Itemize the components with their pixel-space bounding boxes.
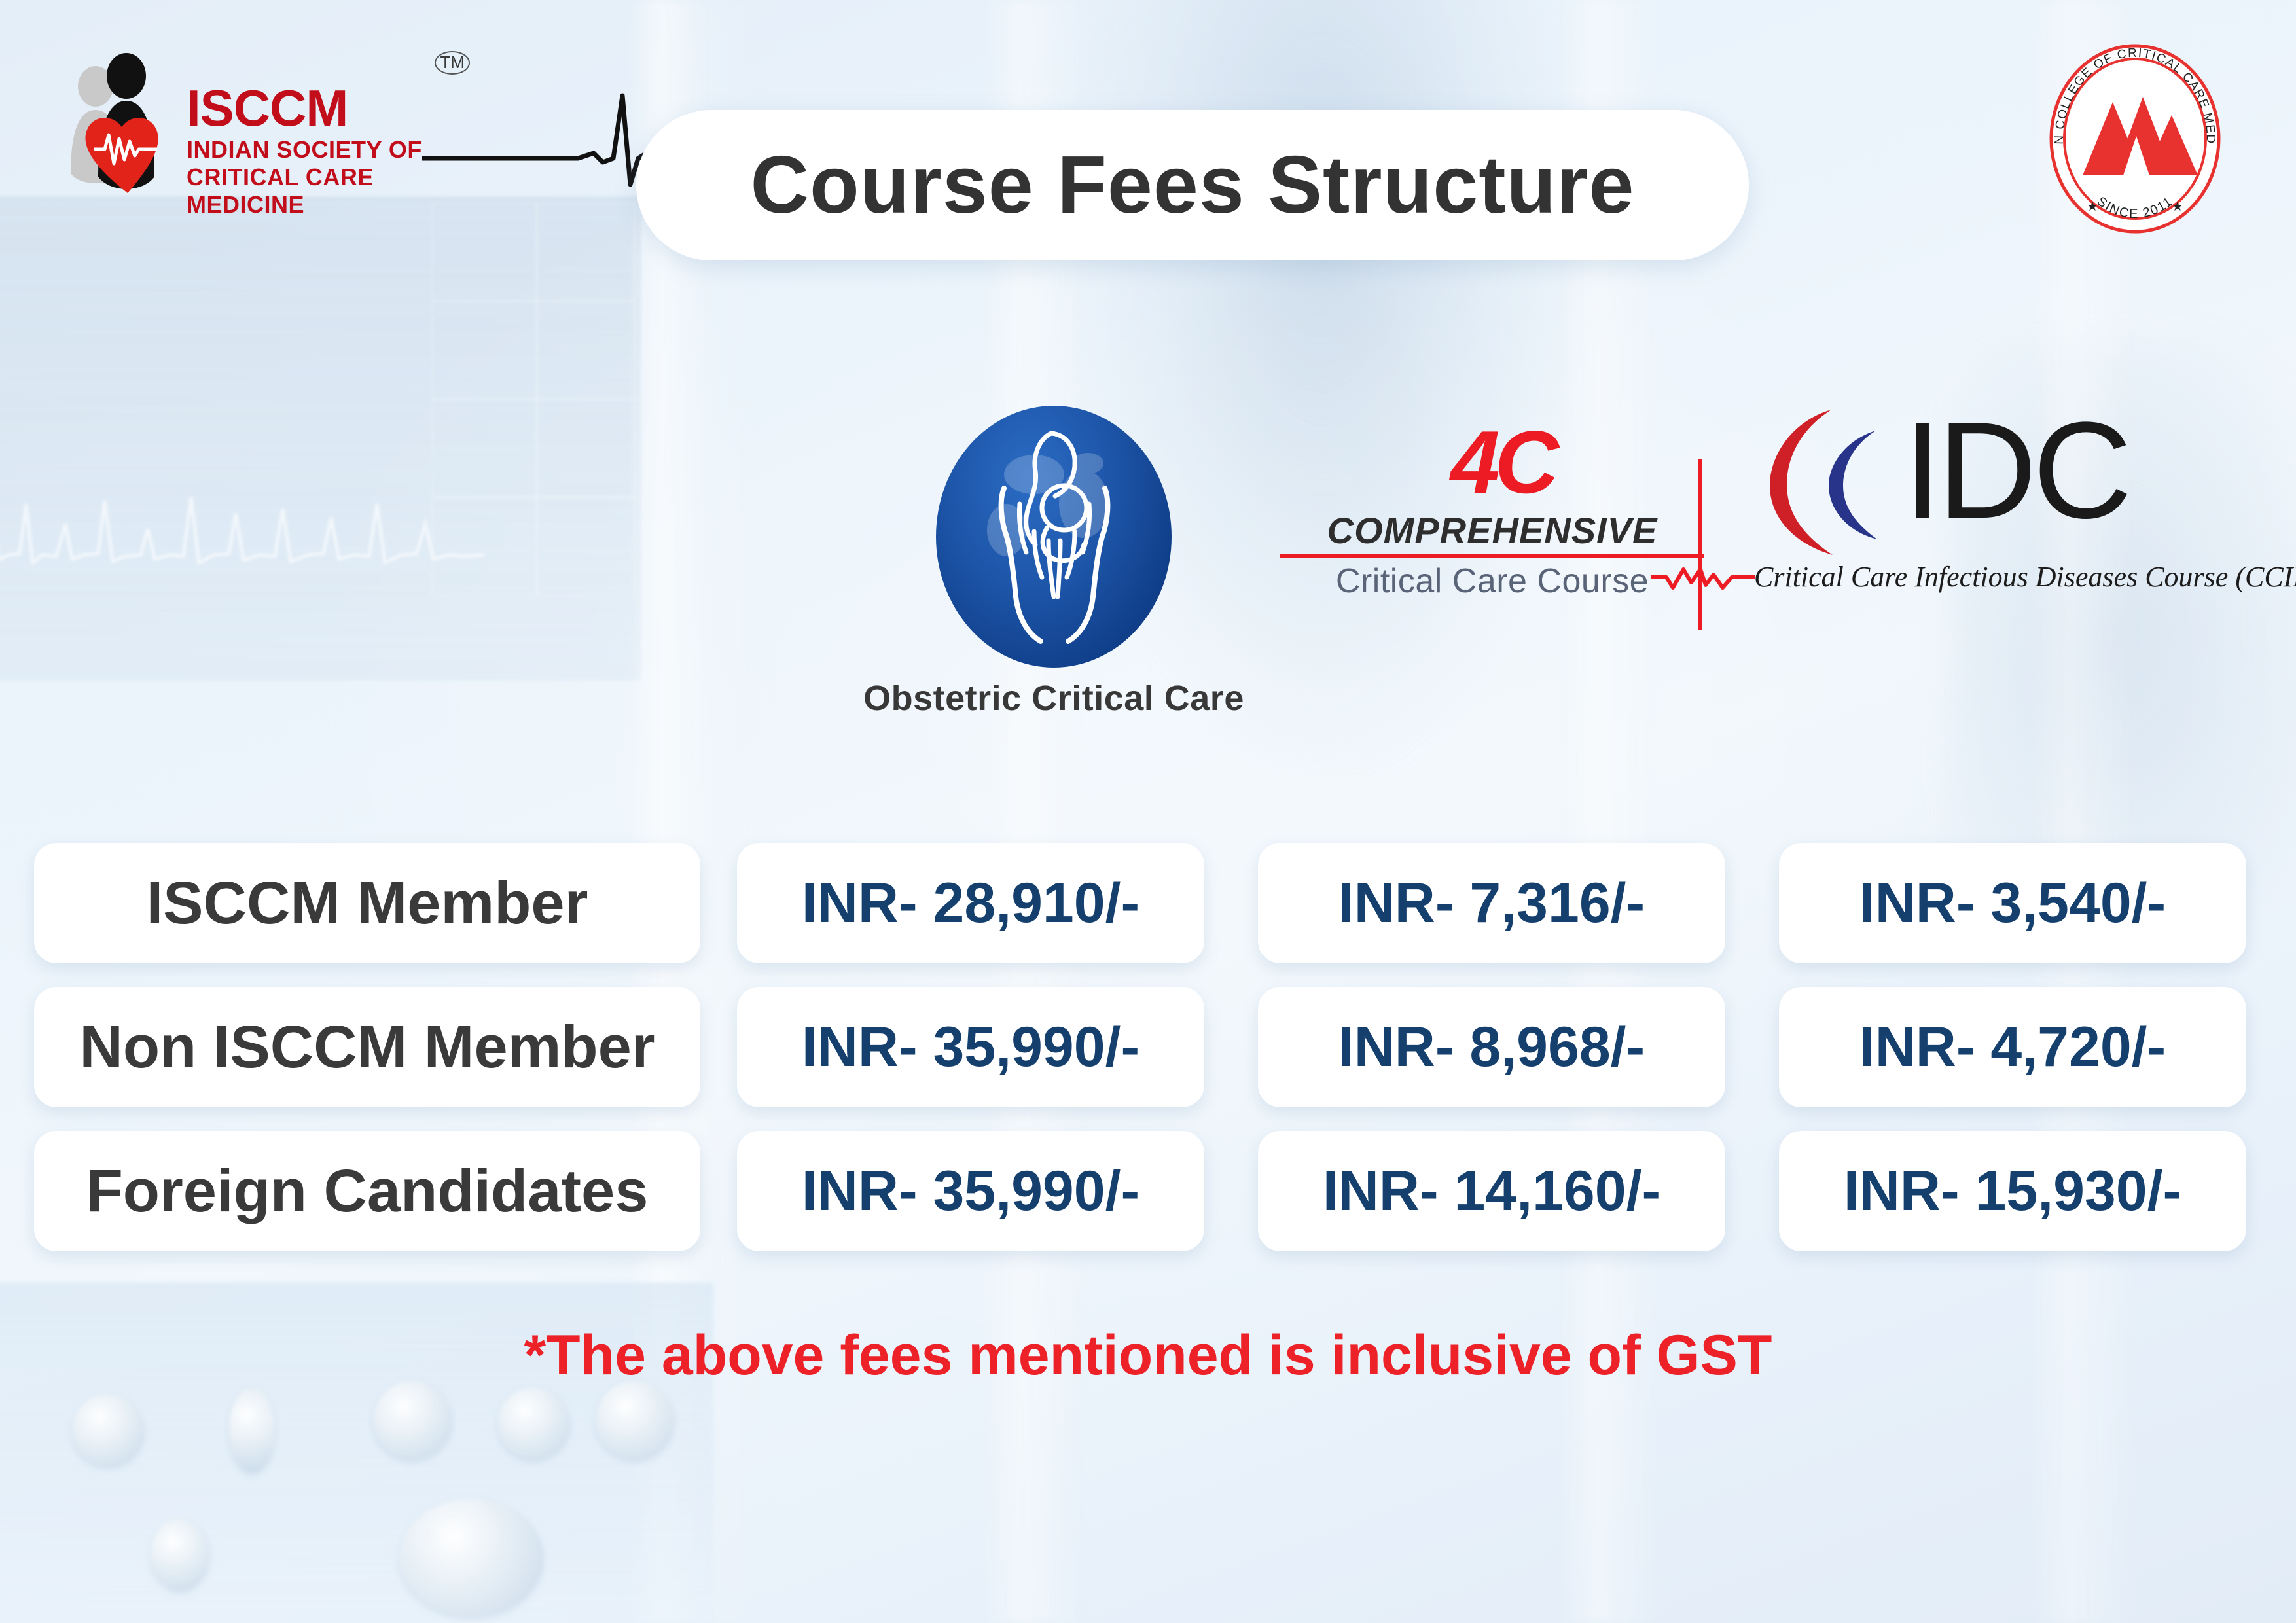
globe-hands-mother-baby-icon: [936, 406, 1172, 668]
isccm-line-1: INDIAN SOCIETY OF: [187, 136, 422, 164]
fee-table: ISCCM Member INR- 28,910/- INR- 7,316/- …: [34, 843, 2266, 1275]
fee-value: INR- 3,540/-: [1859, 871, 2166, 936]
fee-value: INR- 7,316/-: [1338, 871, 1645, 936]
page-title: Course Fees Structure: [751, 139, 1635, 232]
gst-footnote-text: *The above fees mentioned is inclusive o…: [524, 1324, 1772, 1387]
row-label: ISCCM Member: [147, 869, 588, 938]
icccm-seal-logo: INDIAN COLLEGE OF CRITICAL CARE MEDICINE…: [2046, 39, 2224, 236]
cidc-crescents-icon: [1754, 403, 1911, 560]
fee-row-label-non-isccm-member[interactable]: Non ISCCM Member: [34, 987, 700, 1107]
background-monitor-image: [0, 196, 641, 681]
four-c-divider: [1280, 554, 1704, 558]
fee-row-label-foreign-candidates[interactable]: Foreign Candidates: [34, 1131, 700, 1251]
table-row: Foreign Candidates INR- 35,990/- INR- 14…: [34, 1131, 2266, 1251]
fee-cell-obstetric-non-isccm-member[interactable]: INR- 35,990/-: [737, 987, 1204, 1107]
course-fees-poster: TM ISCCM INDIAN SOCIETY OF CRITICAL CARE…: [0, 0, 2296, 1623]
idc-letters: IDC: [1903, 402, 2128, 539]
obstetric-critical-care-logo: Obstetric Critical Care: [825, 406, 1283, 719]
table-row: Non ISCCM Member INR- 35,990/- INR- 8,96…: [34, 987, 2266, 1107]
fee-value: INR- 35,990/-: [802, 1159, 1139, 1224]
cidc-caption: Critical Care Infectious Diseases Course…: [1754, 560, 2265, 594]
seal-star-left-icon: ★: [2087, 200, 2098, 214]
fee-cell-4c-foreign-candidates[interactable]: INR- 14,160/-: [1258, 1131, 1725, 1251]
four-c-ecg-icon: [1651, 459, 1755, 630]
table-row: ISCCM Member INR- 28,910/- INR- 7,316/- …: [34, 843, 2266, 963]
fee-value: INR- 14,160/-: [1323, 1159, 1660, 1224]
fee-cell-4c-non-isccm-member[interactable]: INR- 8,968/-: [1258, 987, 1725, 1107]
row-label: Foreign Candidates: [86, 1157, 649, 1226]
fee-value: INR- 15,930/-: [1844, 1159, 2181, 1224]
fee-cell-cidc-isccm-member[interactable]: INR- 3,540/-: [1779, 843, 2246, 963]
background-waveform-icon: [0, 478, 484, 596]
page-title-pill: Course Fees Structure: [636, 110, 1749, 260]
seal-star-right-icon: ★: [2172, 200, 2183, 214]
fee-value: INR- 4,720/-: [1859, 1015, 2166, 1080]
fee-value: INR- 8,968/-: [1338, 1015, 1645, 1080]
row-label: Non ISCCM Member: [79, 1013, 655, 1082]
fee-cell-cidc-non-isccm-member[interactable]: INR- 4,720/-: [1779, 987, 2246, 1107]
fee-row-label-isccm-member[interactable]: ISCCM Member: [34, 843, 700, 963]
isccm-acronym: ISCCM: [187, 79, 348, 138]
fee-cell-obstetric-isccm-member[interactable]: INR- 28,910/-: [737, 843, 1204, 963]
isccm-logo: TM ISCCM INDIAN SOCIETY OF CRITICAL CARE…: [65, 52, 484, 209]
fee-cell-cidc-foreign-candidates[interactable]: INR- 15,930/-: [1779, 1131, 2246, 1251]
trademark-icon: TM: [435, 51, 470, 75]
isccm-heart-people-icon: [65, 52, 190, 206]
fee-cell-4c-isccm-member[interactable]: INR- 7,316/-: [1258, 843, 1725, 963]
cidc-logo: IDC Critical Care Infectious Diseases Co…: [1754, 406, 2265, 594]
fee-cell-obstetric-foreign-candidates[interactable]: INR- 35,990/-: [737, 1131, 1204, 1251]
fee-value: INR- 35,990/-: [802, 1015, 1139, 1080]
gst-footnote: *The above fees mentioned is inclusive o…: [0, 1323, 2296, 1388]
fee-value: INR- 28,910/-: [802, 871, 1139, 936]
course-logo-row: Obstetric Critical Care 4C COMPREHENSIVE…: [687, 393, 2258, 733]
obstetric-critical-care-caption: Obstetric Critical Care: [825, 678, 1283, 719]
four-c-logo: 4C COMPREHENSIVE Critical Care Course: [1263, 418, 1721, 601]
